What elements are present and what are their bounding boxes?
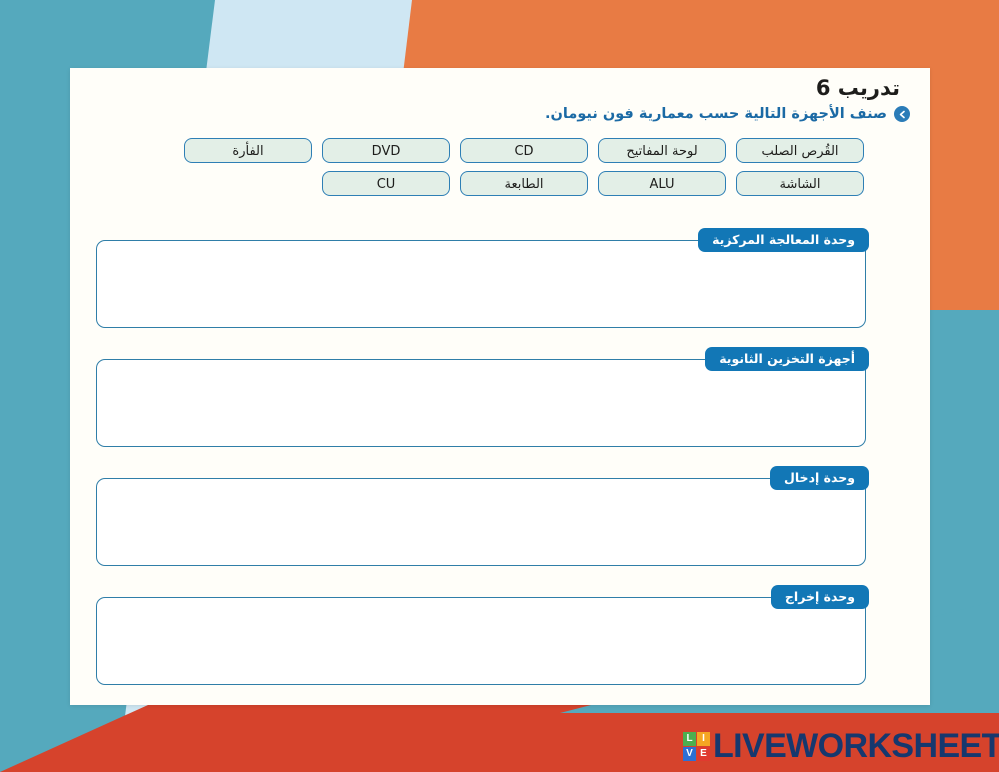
word-bank-row-1: القُرص الصلب لوحة المفاتيح CD DVD الفأرة	[184, 138, 864, 163]
word-chip-dvd[interactable]: DVD	[322, 138, 450, 163]
category-header-cpu: وحدة المعالجة المركزية	[698, 228, 869, 252]
word-chip-cd[interactable]: CD	[460, 138, 588, 163]
word-chip-cu[interactable]: CU	[322, 171, 450, 196]
logo-tile-v: V	[683, 747, 696, 761]
worksheet-card: تدريب 6 صنف الأجهزة التالية حسب معمارية …	[70, 68, 930, 705]
drop-zone-output-unit[interactable]	[96, 597, 866, 685]
word-chip-alu[interactable]: ALU	[598, 171, 726, 196]
drop-zone-input-unit[interactable]	[96, 478, 866, 566]
word-chip-printer[interactable]: الطابعة	[460, 171, 588, 196]
logo-tile-e: E	[697, 747, 710, 761]
logo-tiles: L I V E	[683, 732, 710, 761]
logo-wordmark: LIVEWORKSHEETS	[713, 729, 999, 763]
word-chip-screen[interactable]: الشاشة	[736, 171, 864, 196]
word-chip-mouse[interactable]: الفأرة	[184, 138, 312, 163]
chevron-left-circle-icon	[894, 106, 910, 122]
page-title: تدريب 6	[816, 76, 900, 100]
instruction-row: صنف الأجهزة التالية حسب معمارية فون نيوم…	[545, 106, 910, 122]
category-header-secondary-storage: أجهزة التخزين الثانوية	[705, 347, 869, 371]
logo-tile-i: I	[697, 732, 710, 746]
word-bank-row-2: الشاشة ALU الطابعة CU	[322, 171, 864, 196]
word-chip-hard-disk[interactable]: القُرص الصلب	[736, 138, 864, 163]
word-chip-keyboard[interactable]: لوحة المفاتيح	[598, 138, 726, 163]
category-header-input-unit: وحدة إدخال	[770, 466, 869, 490]
drop-zone-secondary-storage[interactable]	[96, 359, 866, 447]
category-header-output-unit: وحدة إخراج	[771, 585, 869, 609]
instruction-text: صنف الأجهزة التالية حسب معمارية فون نيوم…	[545, 106, 887, 122]
drop-zone-cpu[interactable]	[96, 240, 866, 328]
liveworksheets-logo: L I V E LIVEWORKSHEETS	[683, 729, 999, 763]
logo-tile-l: L	[683, 732, 696, 746]
